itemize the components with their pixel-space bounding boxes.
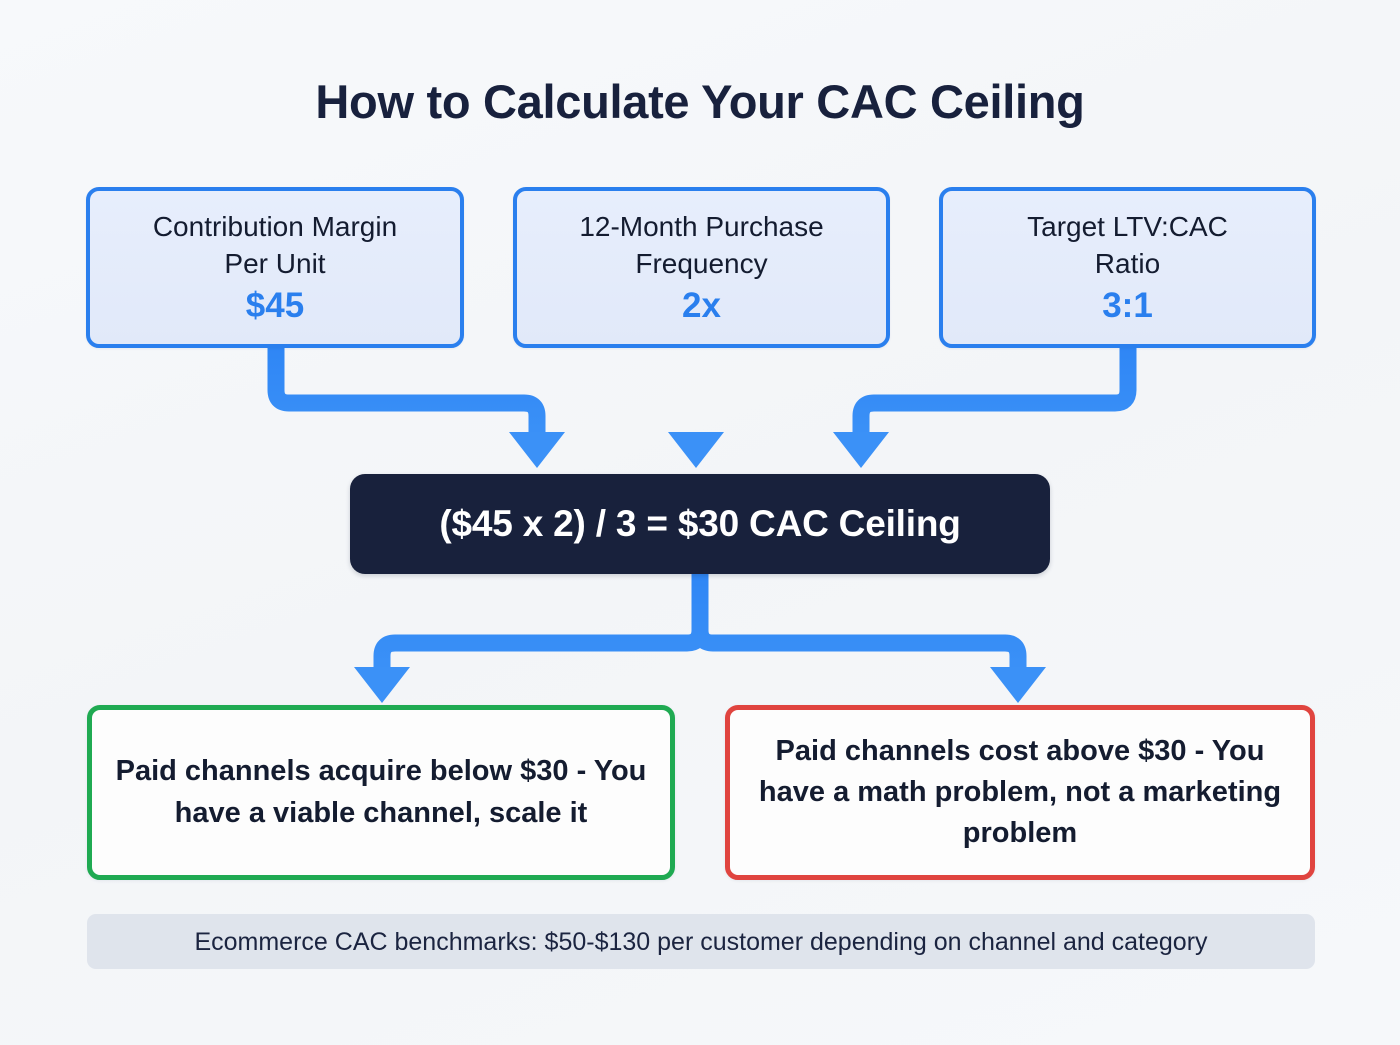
input-card-contribution-margin[interactable]: Contribution Margin Per Unit $45 (86, 187, 464, 348)
input-card-ltv-cac-ratio[interactable]: Target LTV:CAC Ratio 3:1 (939, 187, 1316, 348)
diagram-canvas: How to Calculate Your CAC Ceiling (0, 0, 1400, 1045)
input-card-label: Contribution Margin Per Unit (153, 209, 397, 283)
input-card-purchase-frequency[interactable]: 12-Month Purchase Frequency 2x (513, 187, 890, 348)
arrow-formula-to-positive-outcome (354, 574, 700, 703)
benchmark-note-text: Ecommerce CAC benchmarks: $50-$130 per c… (194, 927, 1207, 957)
arrow-contribution-to-formula (276, 348, 565, 468)
outcome-text: Paid channels acquire below $30 - You ha… (114, 751, 648, 833)
arrow-frequency-to-formula (668, 348, 724, 468)
outcome-card-viable-channel[interactable]: Paid channels acquire below $30 - You ha… (87, 705, 675, 880)
arrow-ratio-to-formula (833, 348, 1128, 468)
benchmark-note-bar: Ecommerce CAC benchmarks: $50-$130 per c… (87, 914, 1315, 969)
input-card-value: 3:1 (1102, 285, 1153, 326)
input-card-value: $45 (246, 285, 304, 326)
arrow-formula-to-negative-outcome (700, 574, 1046, 703)
input-card-value: 2x (682, 285, 721, 326)
input-card-label: 12-Month Purchase Frequency (579, 209, 823, 283)
formula-card[interactable]: ($45 x 2) / 3 = $30 CAC Ceiling (350, 474, 1050, 574)
formula-text: ($45 x 2) / 3 = $30 CAC Ceiling (439, 503, 960, 545)
outcome-card-math-problem[interactable]: Paid channels cost above $30 - You have … (725, 705, 1315, 880)
input-card-label: Target LTV:CAC Ratio (1027, 209, 1228, 283)
outcome-text: Paid channels cost above $30 - You have … (752, 731, 1288, 855)
